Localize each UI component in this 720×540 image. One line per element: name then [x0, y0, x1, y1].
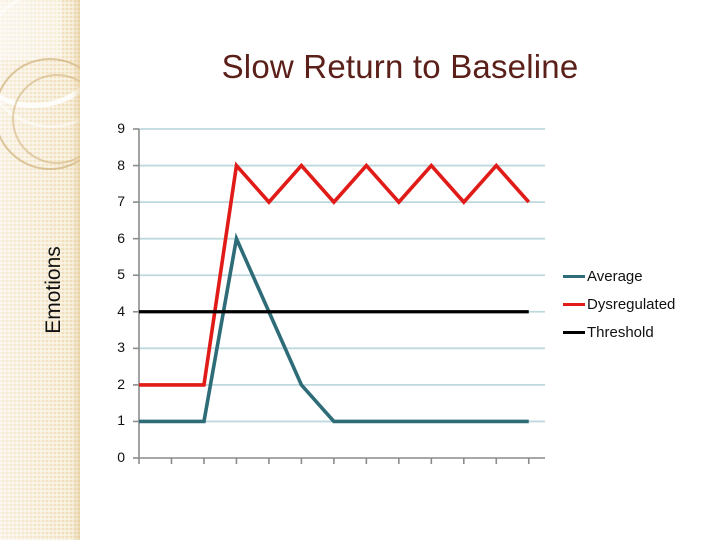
y-axis-tick-label: 8 — [99, 157, 125, 173]
y-axis-tickmarks — [133, 129, 139, 458]
legend-swatch-icon — [563, 303, 585, 306]
y-axis-tick-label: 3 — [99, 339, 125, 355]
y-axis-tick-label: 2 — [99, 376, 125, 392]
y-axis-tick-label: 6 — [99, 230, 125, 246]
chart-legend: AverageDysregulatedThreshold — [563, 262, 713, 346]
y-axis-tick-label: 0 — [99, 449, 125, 465]
legend-swatch-icon — [563, 275, 585, 278]
series-average — [139, 239, 529, 422]
legend-label: Average — [587, 268, 643, 285]
legend-item-threshold[interactable]: Threshold — [563, 318, 713, 346]
y-axis-tick-label: 7 — [99, 193, 125, 209]
x-axis-tickmarks — [139, 458, 529, 464]
legend-swatch-icon — [563, 331, 585, 334]
y-axis-tick-label: 1 — [99, 412, 125, 428]
chart-container: 9876543210 Emotions AverageDysregulatedT… — [0, 0, 720, 540]
legend-item-dysregulated[interactable]: Dysregulated — [563, 290, 713, 318]
legend-label: Dysregulated — [587, 296, 675, 313]
legend-item-average[interactable]: Average — [563, 262, 713, 290]
y-axis-tick-label: 4 — [99, 303, 125, 319]
chart-series-group — [139, 166, 529, 422]
y-axis-title: Emotions — [42, 220, 66, 360]
y-axis-tick-label: 5 — [99, 266, 125, 282]
y-axis-tick-label: 9 — [99, 120, 125, 136]
legend-label: Threshold — [587, 324, 654, 341]
